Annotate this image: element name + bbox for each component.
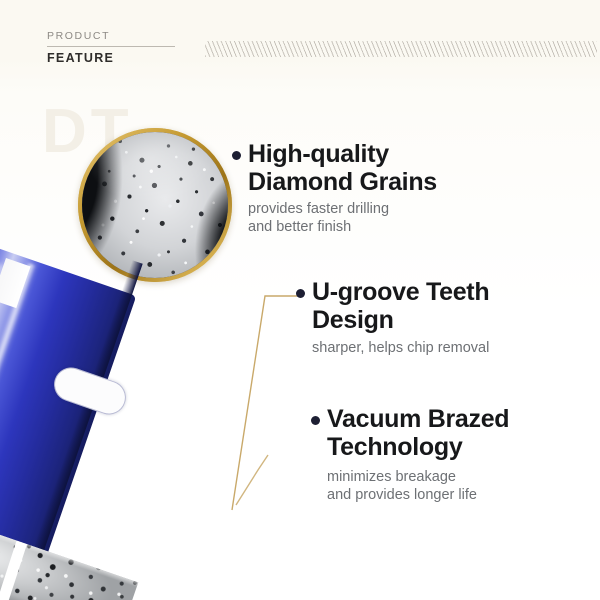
feature-callout-vacuum-brazed: Vacuum BrazedTechnology minimizes breaka… [311, 405, 509, 504]
diagonal-hatch-icon [205, 41, 597, 57]
header-divider [47, 46, 175, 47]
callout-subtitle: sharper, helps chip removal [312, 339, 489, 357]
callout-heading-row: U-groove TeethDesign [296, 278, 489, 334]
product-feature-banner: DT PRODUCT FEATURE [0, 0, 600, 600]
callout-subtitle: minimizes breakageand provides longer li… [327, 468, 509, 504]
inset-photo-area [82, 132, 228, 278]
bullet-dot-icon [232, 151, 241, 160]
bullet-dot-icon [296, 289, 305, 298]
callout-heading-row: Vacuum BrazedTechnology [311, 405, 509, 461]
header-title-group: PRODUCT FEATURE [47, 29, 175, 66]
diamond-grain-closeup-inset [78, 128, 232, 282]
header-eyebrow: PRODUCT [47, 29, 175, 43]
callout-title: Vacuum BrazedTechnology [327, 405, 509, 461]
grain-gloss-highlight [82, 132, 228, 278]
bullet-dot-icon [311, 416, 320, 425]
feature-callout-u-groove-teeth: U-groove TeethDesign sharper, helps chip… [296, 278, 489, 357]
callout-title: High-qualityDiamond Grains [248, 140, 437, 196]
page-title: FEATURE [47, 51, 175, 66]
feature-callout-diamond-grains: High-qualityDiamond Grains provides fast… [232, 140, 437, 236]
callout-heading-row: High-qualityDiamond Grains [232, 140, 437, 196]
callout-title: U-groove TeethDesign [312, 278, 489, 334]
drill-bit-photo [0, 262, 264, 600]
callout-subtitle: provides faster drillingand better finis… [248, 200, 437, 236]
